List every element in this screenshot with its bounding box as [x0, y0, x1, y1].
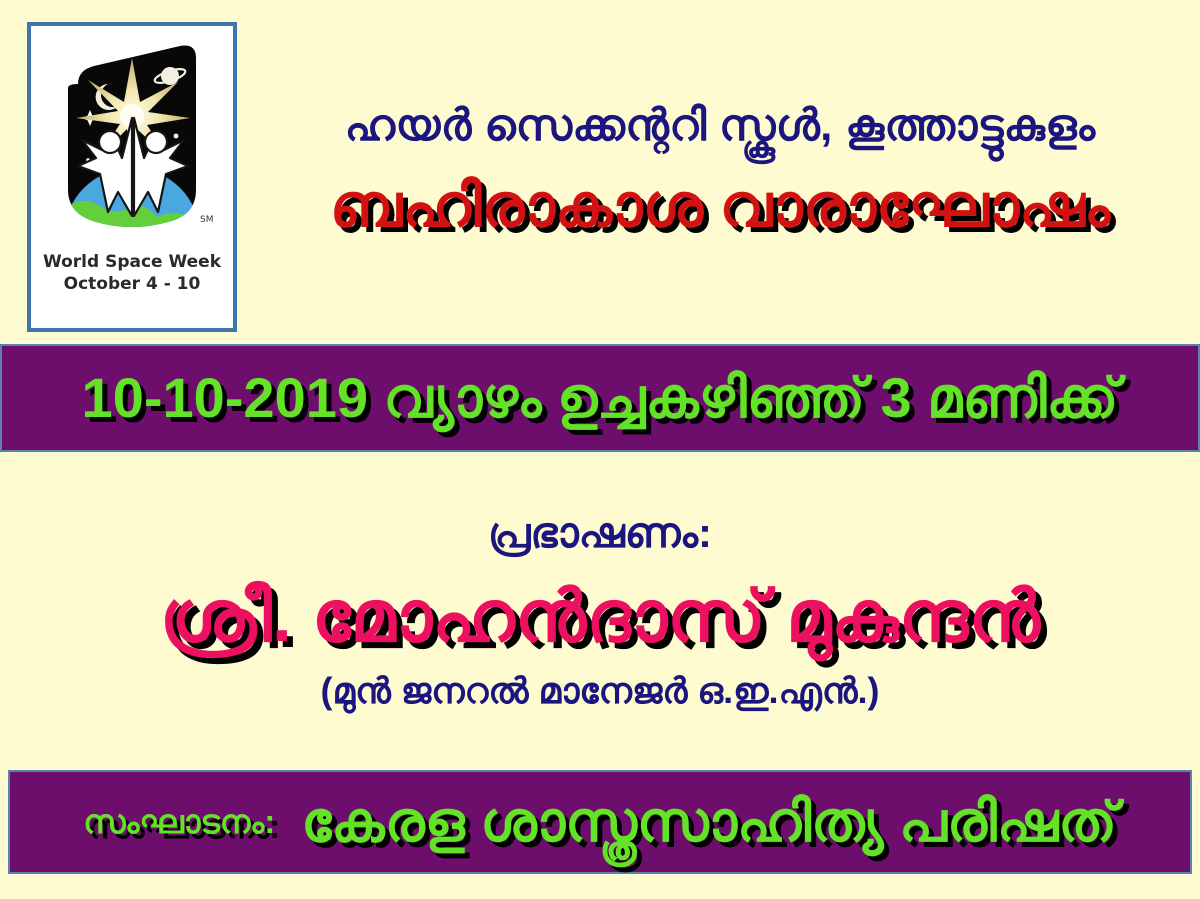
date-time-bar: 10-10-2019 വ്യാഴം ഉച്ചകഴിഞ്ഞ് 3 മണിക്ക്	[0, 344, 1200, 452]
speaker-designation: (മുൻ ജനറൽ മാനേജർ ഒ.ഇ.എൻ.)	[320, 670, 879, 713]
school-name-line: ഹയർ സെക്കന്ററി സ്കൂൾ, കൂത്താട്ടുകുളം	[345, 101, 1096, 151]
organizer-label: സംഘാടനം:	[83, 803, 275, 842]
logo-caption-line1: World Space Week	[43, 252, 221, 272]
date-time-text: 10-10-2019 വ്യാഴം ഉച്ചകഴിഞ്ഞ് 3 മണിക്ക്	[82, 365, 1119, 432]
organizer-name: കേരള ശാസ്ത്രസാഹിത്യ പരിഷത്	[301, 789, 1117, 856]
speech-section: പ്രഭാഷണം: ശ്രീ. മോഹൻദാസ് മുകുന്ദൻ (മുൻ ജ…	[0, 452, 1200, 770]
header-text-block: ഹയർ സെക്കന്ററി സ്കൂൾ, കൂത്താട്ടുകുളം ബഹി…	[250, 0, 1190, 342]
logo-caption: World Space Week October 4 - 10	[43, 252, 221, 296]
svg-text:SM: SM	[200, 215, 213, 225]
world-space-week-logo-icon: SM	[48, 40, 216, 248]
logo-caption-line2: October 4 - 10	[43, 274, 221, 296]
speech-label: പ്രഭാഷണം:	[488, 509, 712, 558]
header-section: SM World Space Week October 4 - 10 ഹയർ സ…	[0, 0, 1200, 342]
event-title: ബഹിരാകാശ വാരാഘോഷം	[330, 171, 1110, 241]
poster-root: SM World Space Week October 4 - 10 ഹയർ സ…	[0, 0, 1200, 899]
organizer-bar: സംഘാടനം: കേരള ശാസ്ത്രസാഹിത്യ പരിഷത്	[8, 770, 1192, 874]
speaker-name: ശ്രീ. മോഹൻദാസ് മുകുന്ദൻ	[160, 576, 1040, 660]
world-space-week-logo-card: SM World Space Week October 4 - 10	[27, 22, 237, 332]
